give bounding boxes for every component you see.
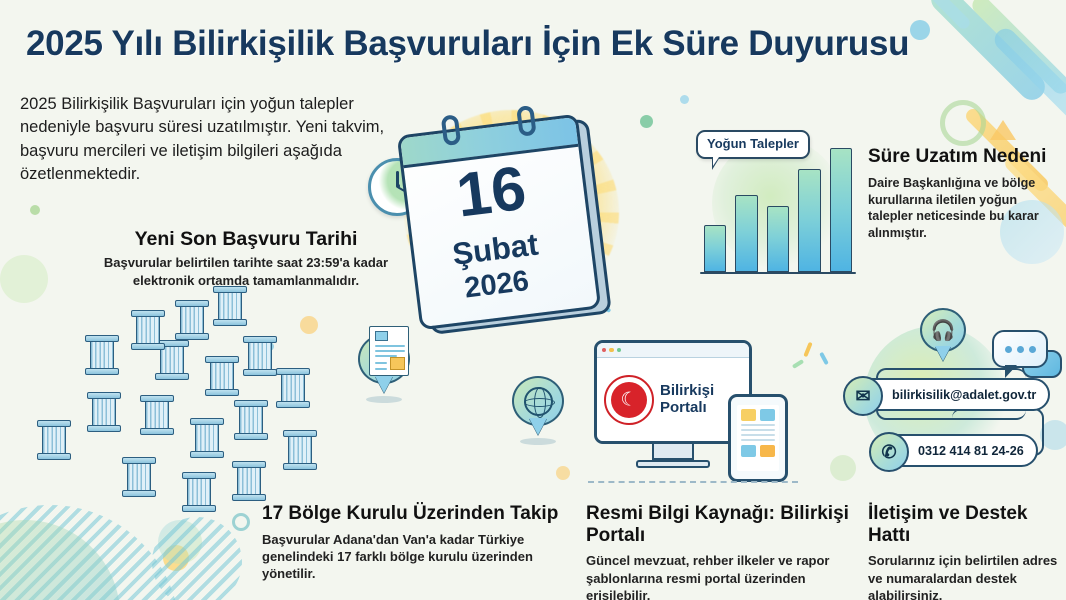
window-dot-red: [602, 348, 606, 352]
section-region: 17 Bölge Kurulu Üzerinden Takip Başvurul…: [262, 503, 562, 583]
deco-ribbon: [926, 0, 1050, 105]
pin-tip: [935, 346, 951, 361]
classical-column-icon: [276, 368, 310, 408]
portal-label-line1: Bilirkişi: [660, 383, 714, 400]
classical-column-icon: [182, 472, 216, 512]
classical-column-icon: [131, 310, 165, 350]
monitor-foot: [636, 460, 710, 468]
deco-ribbon: [969, 0, 1066, 97]
deco-dash: [819, 352, 829, 365]
tablet-screen: [737, 405, 779, 471]
chart-axis: [700, 272, 856, 274]
deco-circle: [680, 95, 689, 104]
phone-chip[interactable]: ✆ 0312 414 81 24-26: [882, 434, 1038, 467]
chat-dot: [1005, 346, 1012, 353]
classical-column-icon: [232, 461, 266, 501]
tablet-tile: [741, 409, 756, 421]
phone-icon: ✆: [869, 432, 909, 472]
chart-bars: [704, 148, 852, 272]
deco-circle: [158, 520, 202, 564]
demand-bar-chart: Yoğun Talepler: [694, 128, 862, 290]
ministry-of-justice-seal-icon: ☾: [604, 375, 654, 425]
page-title: 2025 Yılı Bilirkişilik Başvuruları İçin …: [26, 24, 909, 64]
section-contact-heading: İletişim ve Destek Hattı: [868, 503, 1066, 546]
section-region-body: Başvurular Adana'dan Van'a kadar Türkiye…: [262, 531, 562, 583]
section-contact-body: Sorularınız için belirtilen adres ve num…: [868, 552, 1066, 600]
classical-column-icon: [283, 430, 317, 470]
document-accent-block: [390, 357, 405, 370]
section-region-heading: 17 Bölge Kurulu Üzerinden Takip: [262, 503, 562, 525]
deco-ring: [232, 513, 250, 531]
deco-circle: [0, 520, 120, 600]
deco-circle: [163, 545, 189, 571]
tablet-tile: [760, 445, 775, 457]
classical-column-icon: [122, 457, 156, 497]
calendar-page: 16 Şubat 2026: [397, 114, 602, 331]
classical-column-icon: [87, 392, 121, 432]
classical-column-icon: [140, 395, 174, 435]
chart-annotation-bubble: Yoğun Talepler: [696, 130, 810, 159]
tablet-tile: [760, 409, 775, 421]
document-pin-icon: [358, 334, 410, 394]
classical-column-icon: [175, 300, 209, 340]
deco-circle: [910, 20, 930, 40]
classical-column-icon: [234, 400, 268, 440]
calendar-card: 16 Şubat 2026: [397, 114, 602, 331]
chat-dot: [1029, 346, 1036, 353]
document-thumbnail: [375, 331, 388, 341]
infographic-canvas: 2025 Yılı Bilirkişilik Başvuruları İçin …: [0, 0, 1066, 600]
section-reason-body: Daire Başkanlığına ve bölge kurullarına …: [868, 175, 1058, 243]
classical-column-icon: [37, 420, 71, 460]
deco-triangle: [990, 120, 1016, 140]
portal-illustration: ☾ Bilirkişi Portalı: [588, 338, 808, 486]
deco-circle: [556, 466, 570, 480]
globe-pin-icon: [512, 376, 564, 436]
classical-column-icon: [205, 356, 239, 396]
intro-paragraph: 2025 Bilirkişilik Başvuruları için yoğun…: [20, 93, 392, 187]
deco-stripe-circle: [152, 517, 242, 600]
calendar-illustration: 16 Şubat 2026: [392, 96, 642, 336]
portal-label: Bilirkişi Portalı: [660, 383, 714, 417]
section-deadline: Yeni Son Başvuru Tarihi Başvurular belir…: [96, 228, 396, 289]
section-contact: İletişim ve Destek Hattı Sorularınız içi…: [868, 503, 1066, 600]
chat-dot: [1017, 346, 1024, 353]
tablet-icon: [728, 394, 788, 482]
calendar-ring-icon: [441, 114, 462, 146]
monitor-screen: ☾ Bilirkişi Portalı: [597, 358, 749, 441]
pin-shadow: [520, 438, 556, 445]
headset-glyph: 🎧: [931, 318, 956, 343]
section-portal: Resmi Bilgi Kaynağı: Bilirkişi Portalı G…: [586, 503, 856, 600]
deco-stripe-circle: [0, 505, 180, 600]
deco-ribbon: [900, 0, 972, 31]
deco-circle: [300, 316, 318, 334]
chart-bar: [735, 195, 757, 272]
deco-ribbon: [990, 24, 1066, 146]
chart-bar: [798, 169, 820, 272]
classical-column-icon: [213, 286, 247, 326]
calendar-ring-icon: [516, 105, 537, 137]
chart-bar: [830, 148, 852, 272]
contact-illustration: 🎧 ✉ bilirkisilik@adalet.gov.tr ✆ 0312 41…: [834, 312, 1066, 484]
section-deadline-body: Başvurular belirtilen tarihte saat 23:59…: [96, 254, 396, 289]
deco-ring: [940, 100, 986, 146]
classical-column-icon: [243, 336, 277, 376]
headset-icon: 🎧: [920, 308, 966, 362]
section-portal-heading: Resmi Bilgi Kaynağı: Bilirkişi Portalı: [586, 503, 856, 546]
tablet-tile: [741, 445, 756, 457]
phone-number: 0312 414 81 24-26: [918, 444, 1024, 458]
chat-bubble-icon: [992, 330, 1048, 368]
chart-bar: [704, 225, 726, 272]
globe-icon: [524, 387, 553, 416]
window-dot-yellow: [609, 348, 613, 352]
window-dot-green: [617, 348, 621, 352]
browser-chrome-bar: [597, 343, 749, 358]
envelope-icon: ✉: [843, 376, 883, 416]
pin-shadow: [366, 396, 402, 403]
deco-circle: [30, 205, 40, 215]
classical-column-icon: [190, 418, 224, 458]
desk-line: [588, 481, 798, 483]
deco-circle: [0, 255, 48, 303]
chart-bar: [767, 206, 789, 272]
pin-tip: [529, 418, 547, 435]
pin-tip: [375, 376, 393, 393]
portal-label-line2: Portalı: [660, 400, 714, 417]
monitor-stand: [652, 444, 694, 460]
seal-crescent-glyph: ☾: [620, 390, 637, 409]
section-reason-heading: Süre Uzatım Nedeni: [868, 146, 1058, 168]
section-portal-body: Güncel mevzuat, rehber ilkeler ve rapor …: [586, 552, 856, 600]
document-sheet: [369, 326, 409, 376]
email-address: bilirkisilik@adalet.gov.tr: [892, 388, 1036, 402]
classical-column-icon: [85, 335, 119, 375]
section-reason: Süre Uzatım Nedeni Daire Başkanlığına ve…: [868, 146, 1058, 242]
section-deadline-heading: Yeni Son Başvuru Tarihi: [96, 228, 396, 250]
email-chip[interactable]: ✉ bilirkisilik@adalet.gov.tr: [856, 378, 1050, 411]
